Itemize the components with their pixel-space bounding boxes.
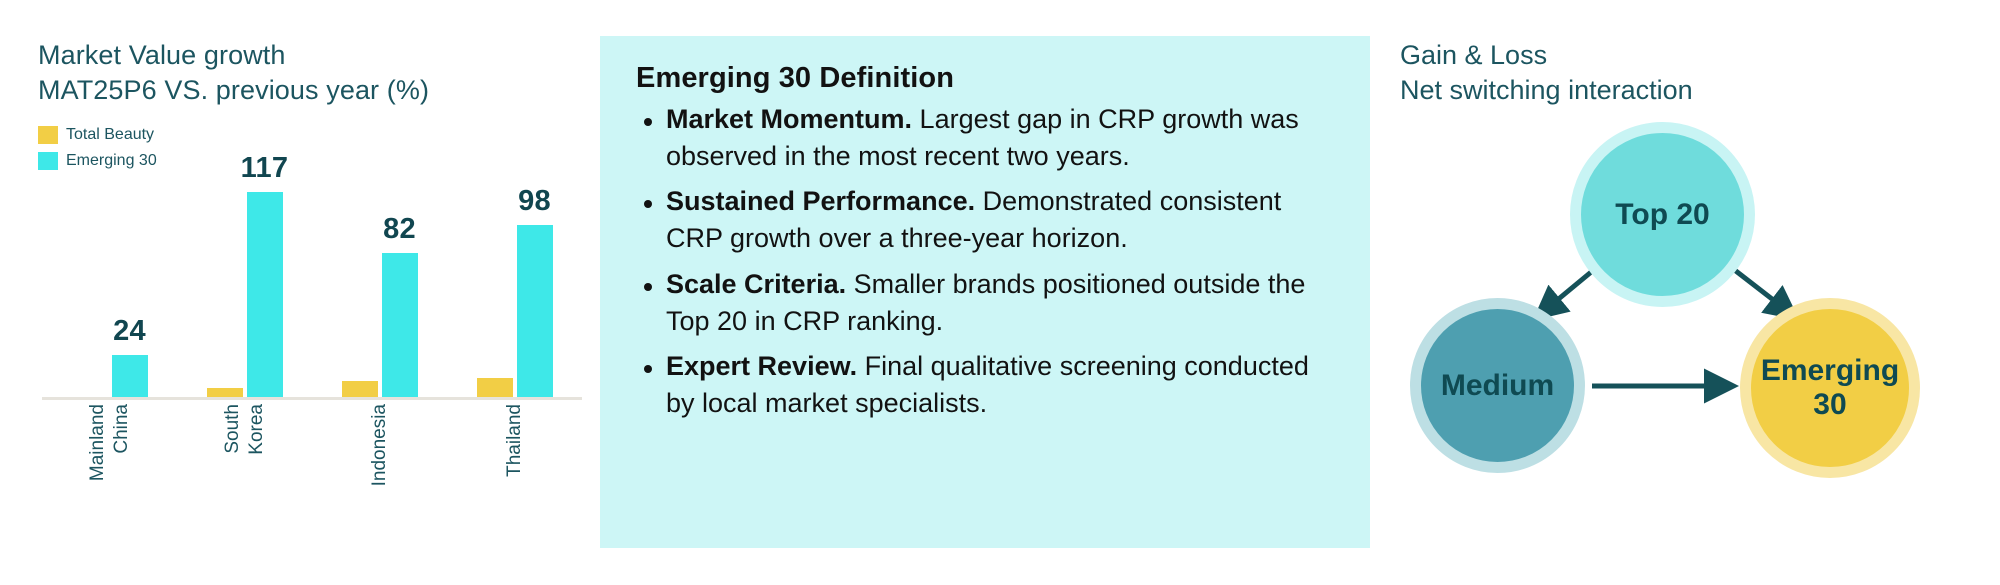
definition-bullet-list: Market Momentum. Largest gap in CRP grow… (636, 101, 1330, 422)
x-axis-line (42, 397, 582, 400)
node-label: Medium (1441, 369, 1554, 403)
definition-term: Market Momentum. (666, 104, 912, 134)
bar-emerging-30: 117 (247, 192, 283, 397)
gain-loss-title-line-2: Net switching interaction (1400, 73, 1960, 108)
bar-group: 98 (447, 170, 582, 397)
bullet-dot-icon (644, 118, 652, 126)
definition-term: Sustained Performance. (666, 186, 975, 216)
arrow-top20-to-medium (1538, 268, 1596, 316)
bar-emerging-30: 24 (112, 355, 148, 397)
node-label-line-2: 30 (1813, 388, 1846, 421)
bar-chart-plot-area: 24 117 82 (42, 170, 582, 400)
bullet-dot-icon (644, 200, 652, 208)
bar-total-beauty (342, 381, 378, 397)
node-label: Top 20 (1615, 198, 1709, 232)
bar-value-label: 24 (113, 315, 146, 348)
bar-group: 82 (312, 170, 447, 397)
bar-value-label: 117 (241, 152, 289, 185)
definition-bullet-item: Expert Review. Final qualitative screeni… (636, 348, 1330, 421)
legend-item-emerging-30: Emerging 30 (38, 150, 157, 172)
bullet-dot-icon (644, 283, 652, 291)
bar-value-label: 82 (383, 213, 416, 246)
market-value-chart-panel: Market Value growth MAT25P6 VS. previous… (0, 0, 600, 585)
x-axis-label-line: Thailand (504, 404, 526, 477)
x-axis-label-line: China (111, 404, 133, 454)
bar-group: 117 (177, 170, 312, 397)
node-top-20[interactable]: Top 20 (1570, 122, 1755, 307)
gain-loss-title: Gain & Loss Net switching interaction (1400, 38, 1960, 107)
bar-value-label: 98 (518, 185, 551, 218)
definition-bullet-item: Scale Criteria. Smaller brands positione… (636, 266, 1330, 339)
chart-title-line-2: MAT25P6 VS. previous year (%) (38, 73, 558, 108)
legend-swatch-icon (38, 126, 58, 144)
x-axis-labels: Mainland China South Korea Indonesia Tha… (42, 404, 582, 564)
bar-emerging-30: 82 (382, 253, 418, 397)
definition-bullet-item: Sustained Performance. Demonstrated cons… (636, 183, 1330, 256)
definition-term: Expert Review. (666, 351, 857, 381)
switching-diagram: Top 20 Medium Emerging 30 (1370, 120, 2000, 570)
definition-term: Scale Criteria. (666, 269, 846, 299)
node-medium[interactable]: Medium (1410, 298, 1585, 473)
x-axis-label-line: South (222, 404, 244, 454)
bar-group: 24 (42, 170, 177, 397)
bullet-dot-icon (644, 365, 652, 373)
gain-loss-panel: Gain & Loss Net switching interaction To… (1370, 0, 2000, 585)
x-axis-label-line: Indonesia (369, 404, 391, 486)
x-axis-label: Indonesia (312, 404, 447, 564)
legend-label: Emerging 30 (66, 153, 157, 169)
x-axis-label: South Korea (177, 404, 312, 564)
legend-label: Total Beauty (66, 127, 154, 143)
bar-total-beauty (477, 378, 513, 397)
legend-item-total-beauty: Total Beauty (38, 124, 157, 146)
definition-heading: Emerging 30 Definition (636, 62, 1330, 95)
gain-loss-title-line-1: Gain & Loss (1400, 38, 1960, 73)
emerging-30-definition-panel: Emerging 30 Definition Market Momentum. … (600, 36, 1370, 548)
chart-title: Market Value growth MAT25P6 VS. previous… (38, 38, 558, 107)
chart-legend: Total Beauty Emerging 30 (38, 124, 157, 176)
node-label-line-1: Emerging (1761, 354, 1899, 387)
bar-emerging-30: 98 (517, 225, 553, 397)
definition-bullet-item: Market Momentum. Largest gap in CRP grow… (636, 101, 1330, 174)
x-axis-label: Mainland China (42, 404, 177, 564)
chart-title-line-1: Market Value growth (38, 38, 558, 73)
x-axis-label-line: Korea (246, 404, 268, 455)
bar-total-beauty (207, 388, 243, 397)
slide-canvas: Market Value growth MAT25P6 VS. previous… (0, 0, 2000, 585)
bar-groups: 24 117 82 (42, 170, 582, 397)
x-axis-label: Thailand (447, 404, 582, 564)
node-label-wrapper: Emerging 30 (1761, 354, 1899, 421)
x-axis-label-line: Mainland (87, 404, 109, 481)
legend-swatch-icon (38, 152, 58, 170)
node-emerging-30[interactable]: Emerging 30 (1740, 298, 1920, 478)
